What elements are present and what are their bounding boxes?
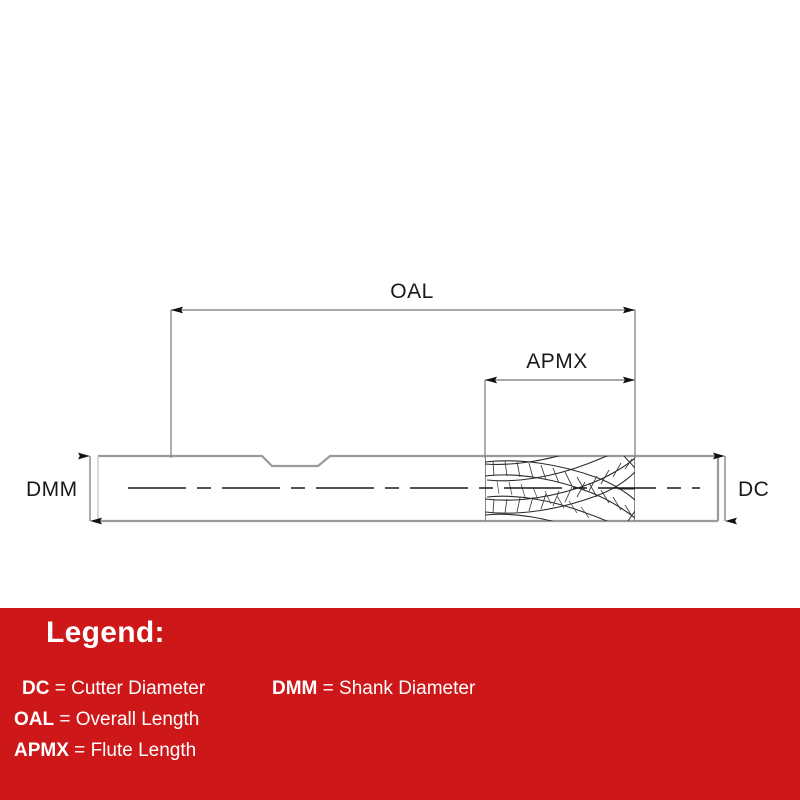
legend-entry-apmx: APMX = Flute Length xyxy=(14,741,196,760)
legend-sep-dc: = xyxy=(49,678,71,699)
legend-def-apmx: Flute Length xyxy=(91,740,197,761)
technical-drawing-area: OAL APMX DMM DC xyxy=(0,0,800,608)
apmx-label: APMX xyxy=(526,350,588,373)
legend-def-dc: Cutter Diameter xyxy=(71,678,205,699)
apmx-dimension: APMX xyxy=(485,350,635,458)
legend-def-dmm: Shank Diameter xyxy=(339,678,475,699)
legend-code-dmm: DMM xyxy=(272,678,317,699)
legend-entry-dmm: DMM = Shank Diameter xyxy=(272,679,475,698)
dmm-dimension: DMM xyxy=(26,456,90,521)
dmm-label: DMM xyxy=(26,478,78,501)
legend-banner: Legend: DC = Cutter Diameter DMM = Shank… xyxy=(0,608,800,800)
legend-code-apmx: APMX xyxy=(14,740,69,761)
legend-code-dc: DC xyxy=(22,678,49,699)
legend-sep-apmx: = xyxy=(69,740,91,761)
legend-entry-oal: OAL = Overall Length xyxy=(14,710,199,729)
legend-sep-dmm: = xyxy=(317,678,339,699)
dc-label: DC xyxy=(738,478,769,501)
end-mill-drawing: OAL APMX DMM DC xyxy=(0,0,800,608)
oal-label: OAL xyxy=(390,280,434,303)
legend-sep-oal: = xyxy=(54,709,76,730)
page-root: OAL APMX DMM DC Legend: DC = Cutte xyxy=(0,0,800,800)
dc-dimension: DC xyxy=(725,456,769,521)
legend-title: Legend: xyxy=(46,618,165,648)
legend-entry-dc: DC = Cutter Diameter xyxy=(22,679,205,698)
legend-def-oal: Overall Length xyxy=(76,709,200,730)
legend-code-oal: OAL xyxy=(14,709,54,730)
